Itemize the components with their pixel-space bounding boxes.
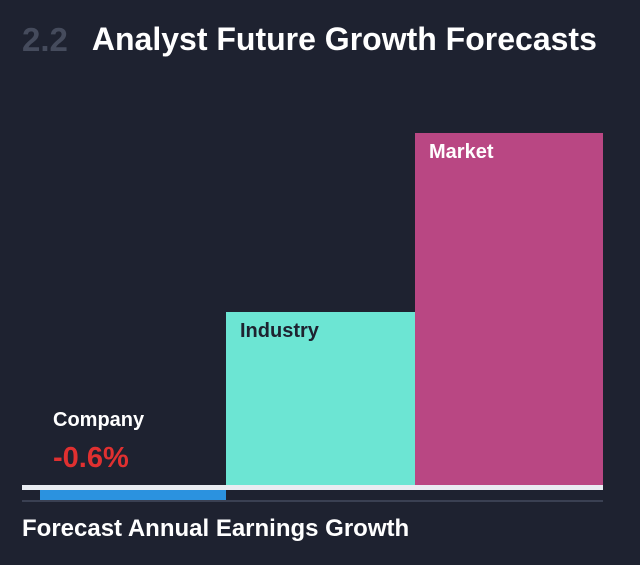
- chart-plot-area: Company -0.6% 7.2% 14.7% Industry Market: [0, 78, 640, 490]
- bar-industry[interactable]: Industry: [226, 312, 415, 490]
- axis-footer-divider: [22, 500, 603, 502]
- company-label-group: Company -0.6%: [53, 410, 144, 473]
- bar-label-industry: Industry: [240, 320, 319, 343]
- axis-caption: Forecast Annual Earnings Growth: [22, 517, 409, 541]
- bar-market[interactable]: Market: [415, 133, 603, 490]
- bar-value-company: -0.6%: [53, 444, 144, 473]
- bar-label-market: Market: [429, 141, 493, 164]
- bar-label-company: Company: [53, 410, 144, 430]
- page-title: Analyst Future Growth Forecasts: [92, 23, 597, 55]
- section-number: 2.2: [22, 23, 68, 56]
- chart-header: 2.2 Analyst Future Growth Forecasts: [0, 0, 640, 78]
